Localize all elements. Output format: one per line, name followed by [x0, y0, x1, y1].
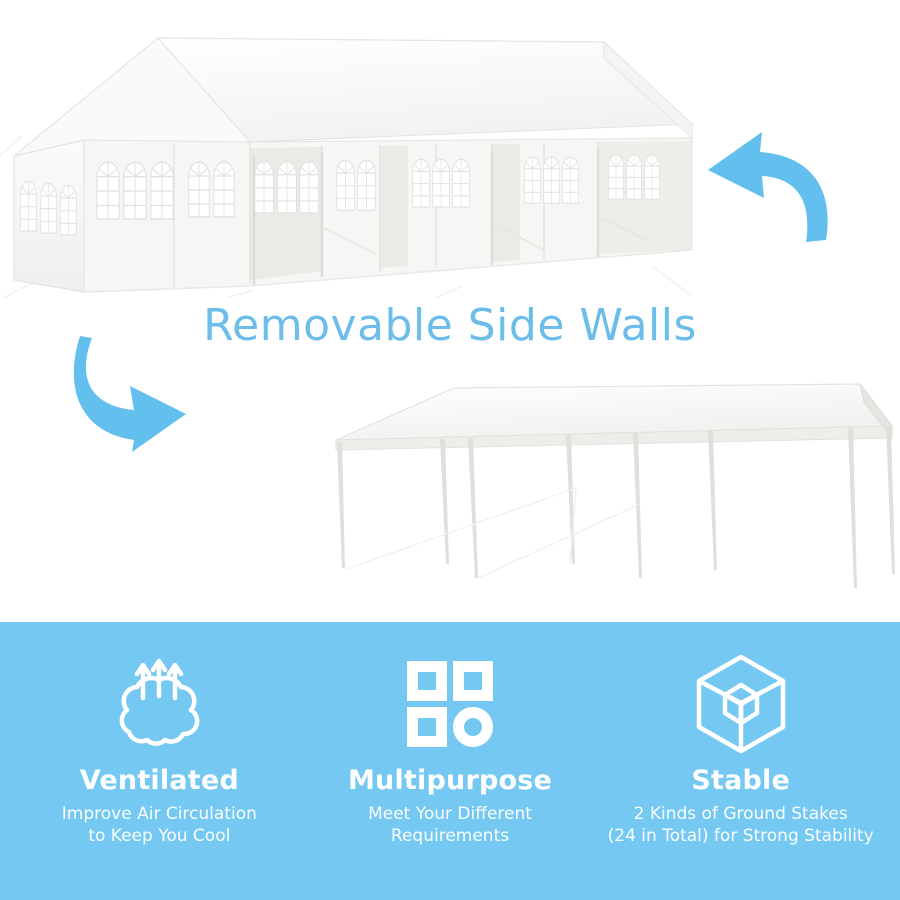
feature-title: Stable [691, 766, 790, 796]
feature-ventilated: Ventilated Improve Air Circulation to Ke… [14, 652, 305, 848]
feature-title: Ventilated [80, 766, 239, 796]
feature-stable: Stable 2 Kinds of Ground Stakes (24 in T… [595, 652, 886, 848]
cube-box-icon [693, 652, 789, 756]
product-showcase: Removable Side Walls [0, 0, 900, 622]
cloud-with-up-arrows-icon [103, 652, 215, 756]
arrow-left-icon [62, 330, 206, 452]
arrow-top-right-icon [702, 128, 834, 246]
tent-with-side-walls-image [0, 28, 700, 298]
grid-squares-circle-icon [402, 652, 498, 756]
feature-panel: Ventilated Improve Air Circulation to Ke… [0, 622, 900, 900]
tent-without-side-walls-image [308, 382, 900, 594]
feature-description: 2 Kinds of Ground Stakes (24 in Total) f… [608, 803, 874, 848]
feature-description: Improve Air Circulation to Keep You Cool [62, 803, 257, 848]
feature-multipurpose: Multipurpose Meet Your Different Require… [305, 652, 596, 848]
feature-description: Meet Your Different Requirements [368, 803, 532, 848]
product-feature-graphic: Removable Side Walls [0, 0, 900, 900]
feature-title: Multipurpose [348, 766, 552, 796]
